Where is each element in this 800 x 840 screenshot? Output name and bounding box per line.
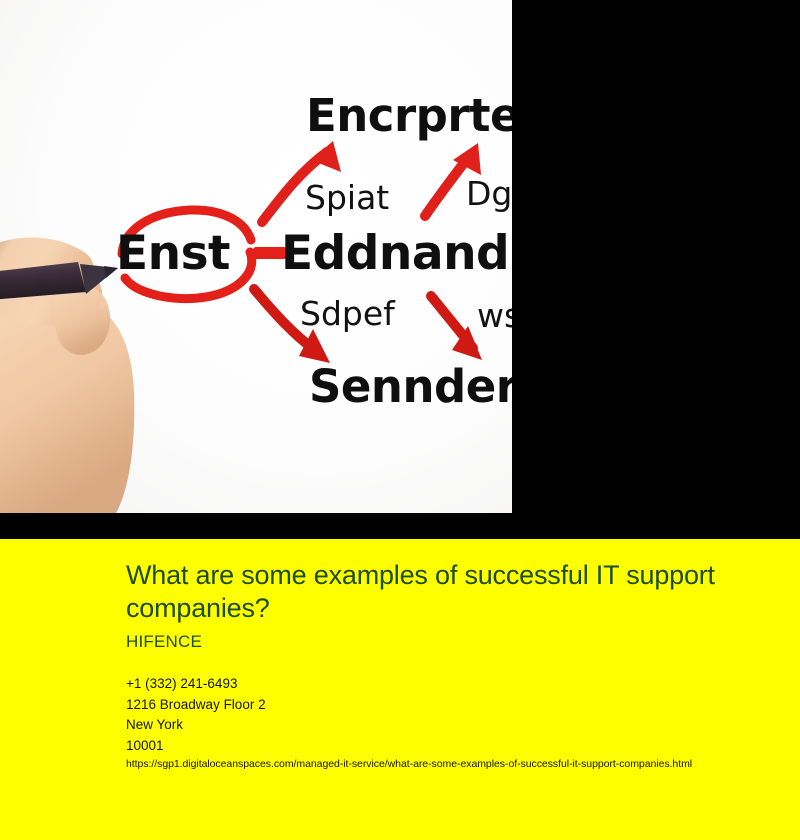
- contact-block: +1 (332) 241-6493 1216 Broadway Floor 2 …: [126, 674, 266, 757]
- diagram-center-right-word: Eddnand: [281, 226, 509, 281]
- info-band: What are some examples of successful IT …: [0, 539, 800, 840]
- contact-phone[interactable]: +1 (332) 241-6493: [126, 674, 266, 695]
- diagram-top-word: Encrprterni: [306, 89, 512, 142]
- contact-city: New York: [126, 715, 266, 736]
- hand-with-marker: [0, 237, 134, 513]
- page-title: What are some examples of successful IT …: [126, 559, 766, 625]
- contact-postal-code: 10001: [126, 736, 266, 757]
- source-url[interactable]: https://sgp1.digitaloceanspaces.com/mana…: [126, 758, 692, 770]
- diagram-subword-sdpef: Sdpef: [300, 294, 395, 333]
- contact-street: 1216 Broadway Floor 2: [126, 695, 266, 716]
- brand-name: HIFENCE: [126, 632, 202, 652]
- diagram-subword-spiat: Spiat: [305, 178, 389, 217]
- diagram-subword-ws: ws: [477, 296, 512, 335]
- diagram-center-left-word: Enst: [116, 226, 230, 281]
- whiteboard-photo: Encrprterni Enst Eddnand Sennderp Spiat …: [0, 0, 512, 513]
- diagram-bottom-word: Sennderp: [309, 360, 512, 413]
- diagram-subword-dg: Dg: [466, 174, 512, 213]
- arrow-lower-right-secondary: [431, 296, 482, 360]
